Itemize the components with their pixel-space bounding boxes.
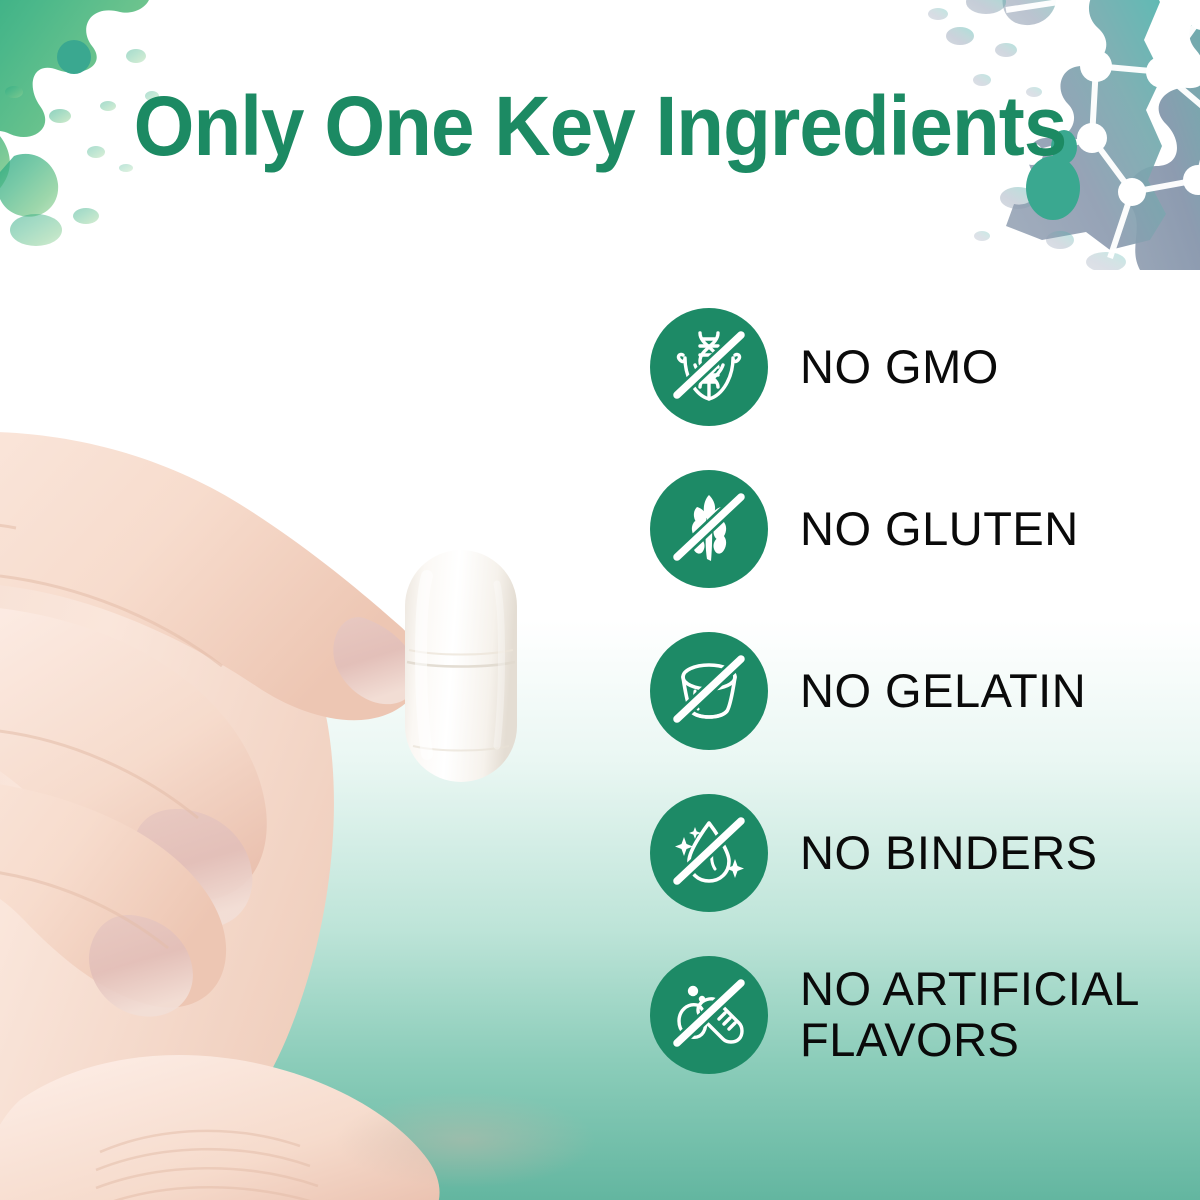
no-gmo-icon [667,325,751,409]
no-binders-icon [667,811,751,895]
no-artificial-flavors-icon [667,973,751,1057]
claim-row-no-gluten: NO GLUTEN [650,448,1190,610]
hand-graphic [0,432,595,1200]
capsule-graphic [405,550,517,782]
claim-label-no-binders: NO BINDERS [800,828,1098,879]
claim-label-no-gmo: NO GMO [800,342,999,393]
no-artificial-flavors-badge [650,956,768,1074]
claim-label-no-gluten: NO GLUTEN [800,504,1079,555]
no-gluten-badge [650,470,768,588]
product-infographic: Only One Key Ingredients [0,0,1200,1200]
claim-row-no-gmo: NO GMO [650,286,1190,448]
no-gmo-badge [650,308,768,426]
claim-row-no-binders: NO BINDERS [650,772,1190,934]
claim-row-no-gelatin: NO GELATIN [650,610,1190,772]
no-gluten-icon [667,487,751,571]
claim-label-no-gelatin: NO GELATIN [800,666,1086,717]
no-gelatin-icon [667,649,751,733]
claims-list: NO GMO [650,286,1190,1096]
no-gelatin-badge [650,632,768,750]
claim-row-no-artificial-flavors: NO ARTIFICIAL FLAVORS [650,934,1190,1096]
hand-holding-capsule-photo [0,380,620,1200]
no-binders-badge [650,794,768,912]
claim-label-no-artificial-flavors: NO ARTIFICIAL FLAVORS [800,964,1140,1066]
page-title: Only One Key Ingredients [42,84,1158,168]
